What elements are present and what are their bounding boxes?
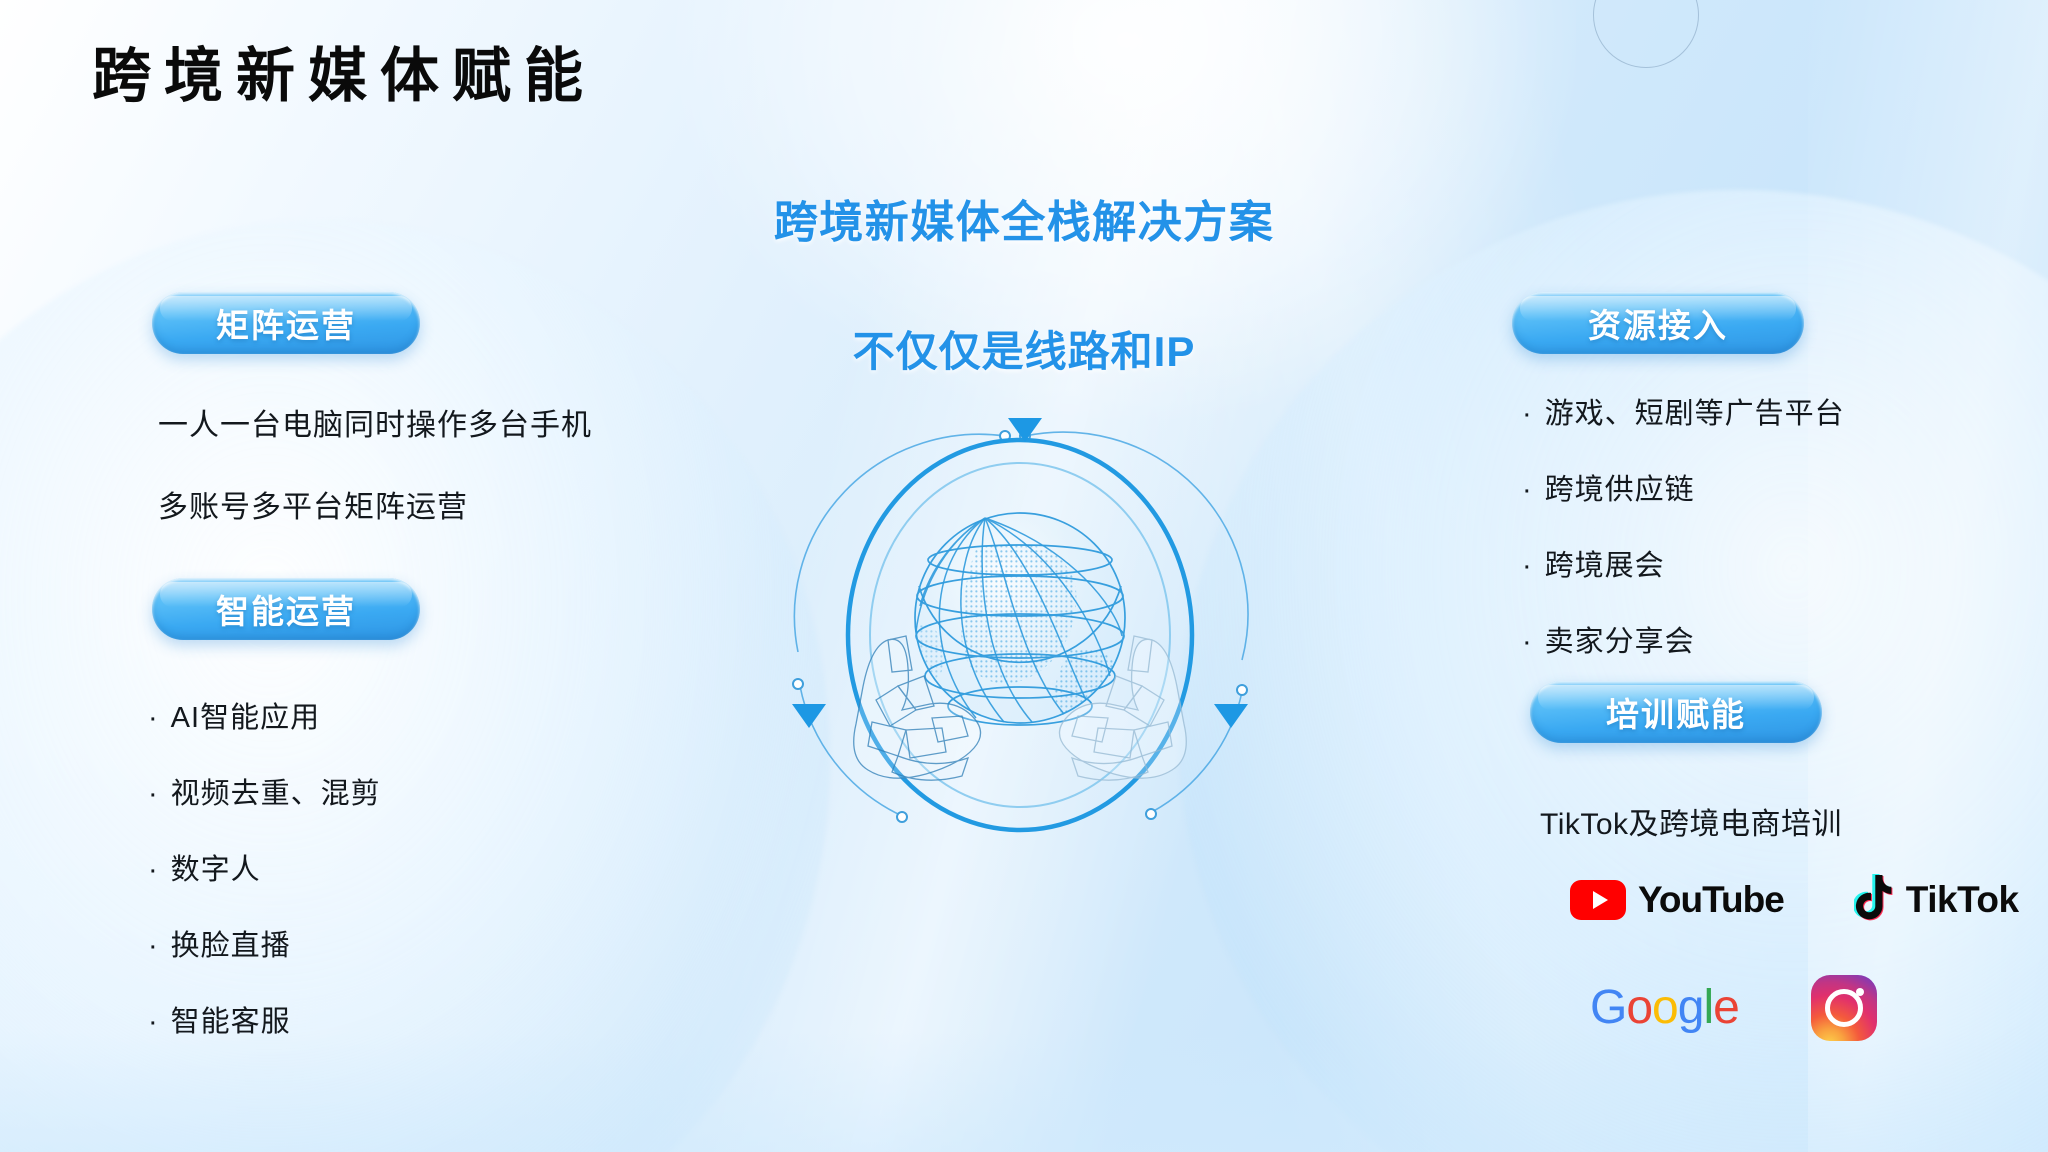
- list-item-label: 数字人: [171, 846, 261, 888]
- instagram-flash-dot-icon: [1856, 988, 1864, 996]
- bullet-dot-icon: ·: [148, 702, 159, 735]
- list-item: ·卖家分享会: [1522, 618, 1845, 660]
- badge-label: 培训赋能: [1606, 688, 1746, 736]
- google-letter: o: [1626, 981, 1652, 1034]
- badge-smart-operation[interactable]: 智能运营: [152, 578, 420, 640]
- bullet-dot-icon: ·: [1522, 626, 1533, 659]
- tiktok-logo[interactable]: TikTok: [1854, 873, 2019, 926]
- badge-training-empowerment[interactable]: 培训赋能: [1530, 681, 1822, 743]
- list-item: ·智能客服: [148, 998, 381, 1040]
- left-line-1: 一人一台电脑同时操作多台手机: [158, 400, 592, 444]
- bullet-dot-icon: ·: [1522, 398, 1533, 431]
- page-title: 跨境新媒体赋能: [92, 46, 596, 108]
- list-item-label: 卖家分享会: [1545, 618, 1695, 660]
- logo-row-bottom: Google: [1590, 975, 1877, 1041]
- list-item: ·数字人: [148, 846, 381, 888]
- left-bullet-list: ·AI智能应用 ·视频去重、混剪 ·数字人 ·换脸直播 ·智能客服: [148, 694, 381, 1040]
- list-item: ·视频去重、混剪: [148, 770, 381, 812]
- list-item: ·AI智能应用: [148, 694, 381, 736]
- youtube-logo[interactable]: YouTube: [1570, 879, 1784, 921]
- list-item-label: 跨境展会: [1545, 542, 1665, 584]
- tiktok-note-icon: [1854, 873, 1896, 926]
- google-letter: o: [1652, 981, 1678, 1034]
- badge-label: 矩阵运营: [216, 299, 356, 347]
- google-letter: g: [1678, 981, 1704, 1034]
- list-item: ·换脸直播: [148, 922, 381, 964]
- bullet-dot-icon: ·: [148, 778, 159, 811]
- instagram-logo[interactable]: [1811, 975, 1877, 1041]
- center-headline-primary: 跨境新媒体全栈解决方案: [0, 186, 2048, 250]
- bullet-dot-icon: ·: [148, 854, 159, 887]
- globe-graphic: [780, 400, 1260, 870]
- bullet-dot-icon: ·: [1522, 550, 1533, 583]
- list-item-label: 跨境供应链: [1545, 466, 1695, 508]
- google-letter: l: [1703, 981, 1713, 1034]
- google-logo[interactable]: Google: [1590, 984, 1739, 1032]
- slide-stage: 跨境新媒体赋能 跨境新媒体全栈解决方案 不仅仅是线路和IP 矩阵运营 一人一台电…: [0, 0, 2048, 1152]
- badge-matrix-operation[interactable]: 矩阵运营: [152, 292, 420, 354]
- list-item-label: 换脸直播: [171, 922, 291, 964]
- tiktok-wordmark: TikTok: [1906, 879, 2019, 921]
- list-item: ·游戏、短剧等广告平台: [1522, 390, 1845, 432]
- youtube-play-icon: [1570, 880, 1626, 920]
- list-item-label: 游戏、短剧等广告平台: [1545, 390, 1845, 432]
- bullet-dot-icon: ·: [148, 930, 159, 963]
- list-item-label: 智能客服: [171, 998, 291, 1040]
- badge-resource-access[interactable]: 资源接入: [1512, 292, 1804, 354]
- google-letter: e: [1713, 981, 1739, 1034]
- badge-label: 智能运营: [216, 585, 356, 633]
- bullet-dot-icon: ·: [148, 1006, 159, 1039]
- list-item: ·跨境展会: [1522, 542, 1845, 584]
- badge-label: 资源接入: [1588, 299, 1728, 347]
- list-item-label: 视频去重、混剪: [171, 770, 381, 812]
- left-line-2: 多账号多平台矩阵运营: [158, 482, 468, 526]
- google-letter: G: [1590, 981, 1626, 1034]
- list-item: ·跨境供应链: [1522, 466, 1845, 508]
- bullet-dot-icon: ·: [1522, 474, 1533, 507]
- list-item-label: AI智能应用: [171, 694, 320, 736]
- right-bullet-list: ·游戏、短剧等广告平台 ·跨境供应链 ·跨境展会 ·卖家分享会: [1522, 390, 1845, 660]
- training-description: TikTok及跨境电商培训: [1540, 799, 1842, 843]
- youtube-wordmark: YouTube: [1638, 879, 1784, 921]
- logo-row-top: YouTube TikTok: [1570, 873, 2019, 926]
